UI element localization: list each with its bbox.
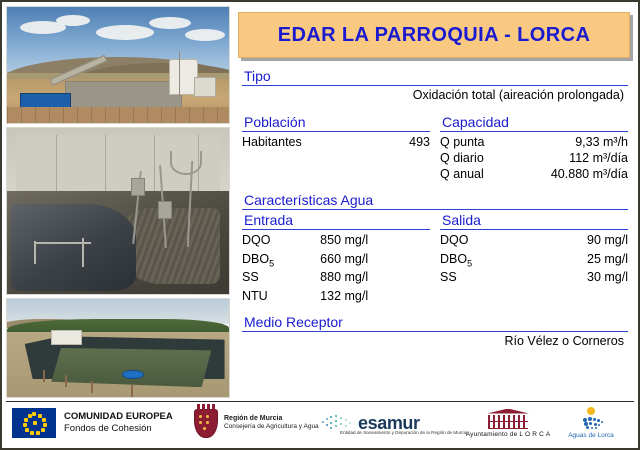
row-value: 25 mg/l	[523, 251, 628, 270]
row-label: DQO	[242, 232, 306, 251]
row-label: DBO5	[440, 251, 523, 270]
table-row: Q anual 40.880 m³/día	[440, 166, 628, 182]
cloud-icon	[185, 29, 225, 41]
eu-line1: COMUNIDAD EUROPEA	[64, 411, 173, 423]
table-row: Habitantes 493	[242, 134, 430, 150]
dark-water	[11, 204, 135, 290]
row-value: 90 mg/l	[523, 232, 628, 251]
title-bar: EDAR LA PARROQUIA - LORCA	[238, 12, 630, 58]
row-label: Q punta	[440, 134, 509, 150]
section-heading-tipo: Tipo	[242, 68, 628, 86]
entrada-salida-columns: Entrada DQO 850 mg/l DBO5 660 mg/l	[242, 212, 628, 306]
row-value: 112 m³/día	[509, 150, 628, 166]
entrada-table: DQO 850 mg/l DBO5 660 mg/l SS 880 mg/l	[242, 232, 430, 306]
salida-table: DQO 90 mg/l DBO5 25 mg/l SS 30 mg/l	[440, 232, 628, 288]
row-label: DBO5	[242, 251, 306, 270]
lorca-label: Ayuntamiento de L O R C A	[466, 431, 551, 438]
section-heading-capacidad: Capacidad	[440, 114, 628, 132]
row-value: 9,33 m³/h	[509, 134, 628, 150]
row-value: 30 mg/l	[523, 269, 628, 288]
esamur-tagline: Entidad de Saneamiento y Depuración de l…	[340, 430, 467, 435]
townhall-building-icon	[485, 409, 531, 429]
row-value: 660 mg/l	[306, 251, 430, 270]
section-heading-caracteristicas: Características Agua	[242, 192, 628, 210]
section-poblacion: Población Habitantes 493	[242, 114, 440, 182]
photo-column	[6, 6, 230, 398]
tipo-value: Oxidación total (aireación prolongada)	[242, 88, 628, 102]
table-row: SS 30 mg/l	[440, 269, 628, 288]
row-label: Q diario	[440, 150, 509, 166]
wall-bracket	[131, 178, 145, 196]
table-row: Q punta 9,33 m³/h	[440, 134, 628, 150]
footer-logos: COMUNIDAD EUROPEA Fondos de Cohesión Reg…	[6, 402, 634, 444]
logo-region-de-murcia: Región de Murcia Consejería de Agricultu…	[194, 409, 320, 438]
page-title: EDAR LA PARROQUIA - LORCA	[278, 24, 591, 47]
poblacion-table: Habitantes 493	[242, 134, 430, 150]
table-row: DQO 850 mg/l	[242, 232, 430, 251]
white-shed	[51, 330, 82, 345]
row-value: 132 mg/l	[306, 288, 430, 307]
row-value: 850 mg/l	[306, 232, 430, 251]
wall-seam	[154, 135, 155, 198]
logo-esamur: esamur Entidad de Saneamiento y Depuraci…	[320, 413, 460, 434]
info-panel: EDAR LA PARROQUIA - LORCA Tipo Oxidación…	[238, 6, 634, 396]
mast-pole	[179, 51, 180, 97]
row-label: Habitantes	[242, 134, 344, 150]
table-row: Q diario 112 m³/día	[440, 150, 628, 166]
table-row: SS 880 mg/l	[242, 269, 430, 288]
section-heading-medio-receptor: Medio Receptor	[242, 314, 628, 332]
table-row: DBO5 25 mg/l	[440, 251, 628, 270]
fence-post	[43, 370, 45, 382]
row-value: 40.880 m³/día	[509, 166, 628, 182]
treatment-basin	[65, 81, 182, 109]
row-label: NTU	[242, 288, 306, 307]
eu-line2: Fondos de Cohesión	[64, 423, 173, 435]
photo-plant-exterior	[6, 6, 230, 124]
row-label: Q anual	[440, 166, 509, 182]
table-row: NTU 132 mg/l	[242, 288, 430, 307]
fence-post	[91, 381, 93, 393]
medio-receptor-value: Río Vélez o Corneros	[242, 334, 628, 348]
paving	[7, 107, 229, 123]
cloud-icon	[149, 17, 191, 29]
fence-post	[131, 385, 133, 397]
pond-water	[51, 348, 211, 387]
aguas-label: Aguas de Lorca	[568, 432, 614, 439]
eu-label: COMUNIDAD EUROPEA Fondos de Cohesión	[64, 411, 173, 435]
section-entrada: Entrada DQO 850 mg/l DBO5 660 mg/l	[242, 212, 440, 306]
section-poblacion-capacidad: Población Habitantes 493 Capacidad Q pun…	[242, 114, 628, 182]
section-salida: Salida DQO 90 mg/l DBO5 25 mg/l	[440, 212, 628, 306]
capacidad-table: Q punta 9,33 m³/h Q diario 112 m³/día Q …	[440, 134, 628, 182]
cloud-icon	[96, 25, 154, 40]
murcia-label: Región de Murcia Consejería de Agricultu…	[224, 415, 319, 431]
section-medio-receptor: Medio Receptor Río Vélez o Corneros	[242, 314, 628, 348]
row-label: SS	[440, 269, 523, 288]
section-heading-poblacion: Población	[242, 114, 430, 132]
murcia-crest-icon	[194, 409, 218, 438]
row-label: DQO	[440, 232, 523, 251]
fence-post	[65, 375, 67, 387]
slide-page: EDAR LA PARROQUIA - LORCA Tipo Oxidación…	[0, 0, 640, 450]
section-heading-entrada: Entrada	[242, 212, 430, 230]
table-row: DQO 90 mg/l	[440, 232, 628, 251]
logo-european-union: COMUNIDAD EUROPEA Fondos de Cohesión	[6, 408, 194, 438]
logo-ayuntamiento-lorca: Ayuntamiento de L O R C A	[460, 409, 556, 438]
data-fields: Tipo Oxidación total (aireación prolonga…	[242, 68, 628, 396]
row-value: 493	[344, 134, 430, 150]
eu-flag-icon	[12, 408, 56, 438]
section-tipo: Tipo Oxidación total (aireación prolonga…	[242, 68, 628, 102]
handrail-post	[34, 241, 36, 264]
wall-seam	[56, 135, 57, 198]
control-cabinet	[194, 77, 216, 97]
murcia-line1: Región de Murcia	[224, 415, 319, 423]
section-heading-salida: Salida	[440, 212, 628, 230]
photo-tank-interior	[6, 127, 230, 295]
wall-seam	[105, 135, 106, 198]
section-caracteristicas: Características Agua Entrada DQO 850 mg/…	[242, 192, 628, 306]
cloud-icon	[56, 15, 90, 26]
aguas-sun-dots-icon	[574, 407, 608, 431]
section-capacidad: Capacidad Q punta 9,33 m³/h Q diario 112…	[440, 114, 628, 182]
table-row: DBO5 660 mg/l	[242, 251, 430, 270]
row-value: 880 mg/l	[306, 269, 430, 288]
sludge-deposit	[122, 208, 220, 284]
handrail-post	[82, 238, 84, 268]
row-label: SS	[242, 269, 306, 288]
logo-aguas-de-lorca: Aguas de Lorca	[556, 407, 626, 439]
wall-bracket	[158, 201, 172, 219]
murcia-line2: Consejería de Agricultura y Agua	[224, 423, 319, 431]
photo-lagoon	[6, 298, 230, 398]
